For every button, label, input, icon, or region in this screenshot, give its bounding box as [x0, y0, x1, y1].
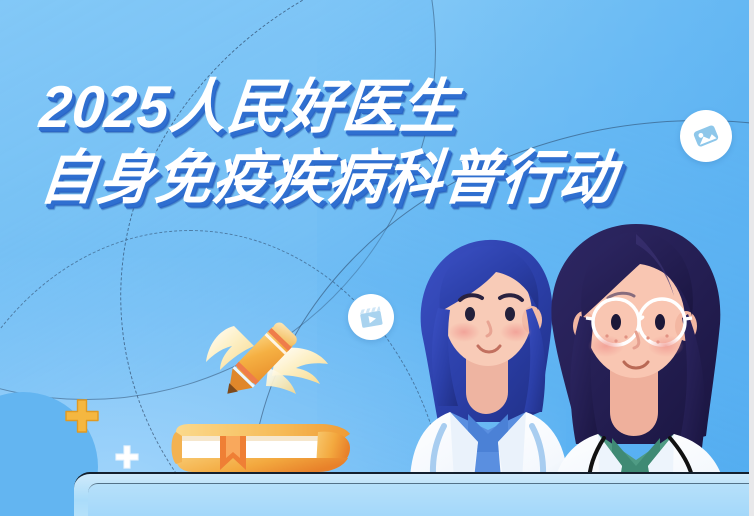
photo-icon — [689, 119, 723, 153]
title-line-1: 2025人民好医生 — [37, 78, 619, 137]
right-edge-strip — [749, 0, 754, 516]
winged-pencil-icon — [172, 310, 342, 430]
video-badge[interactable] — [348, 294, 394, 340]
campaign-poster: 2025人民好医生 自身免疫疾病科普行动 — [0, 0, 754, 516]
title-line-2: 自身免疫疾病科普行动 — [37, 149, 619, 208]
plus-icon — [113, 443, 141, 471]
two-doctors-icon — [404, 216, 754, 516]
poster-title: 2025人民好医生 自身免疫疾病科普行动 — [28, 78, 628, 208]
bottom-device-panel — [74, 472, 754, 516]
bottom-device-panel-inner — [88, 483, 754, 516]
video-icon — [356, 302, 386, 332]
photo-badge[interactable] — [680, 110, 732, 162]
doctors-illustration — [404, 216, 754, 516]
winged-pencil-illustration — [172, 310, 342, 435]
plus-decoration-orange — [62, 396, 102, 441]
plus-icon — [62, 396, 102, 436]
